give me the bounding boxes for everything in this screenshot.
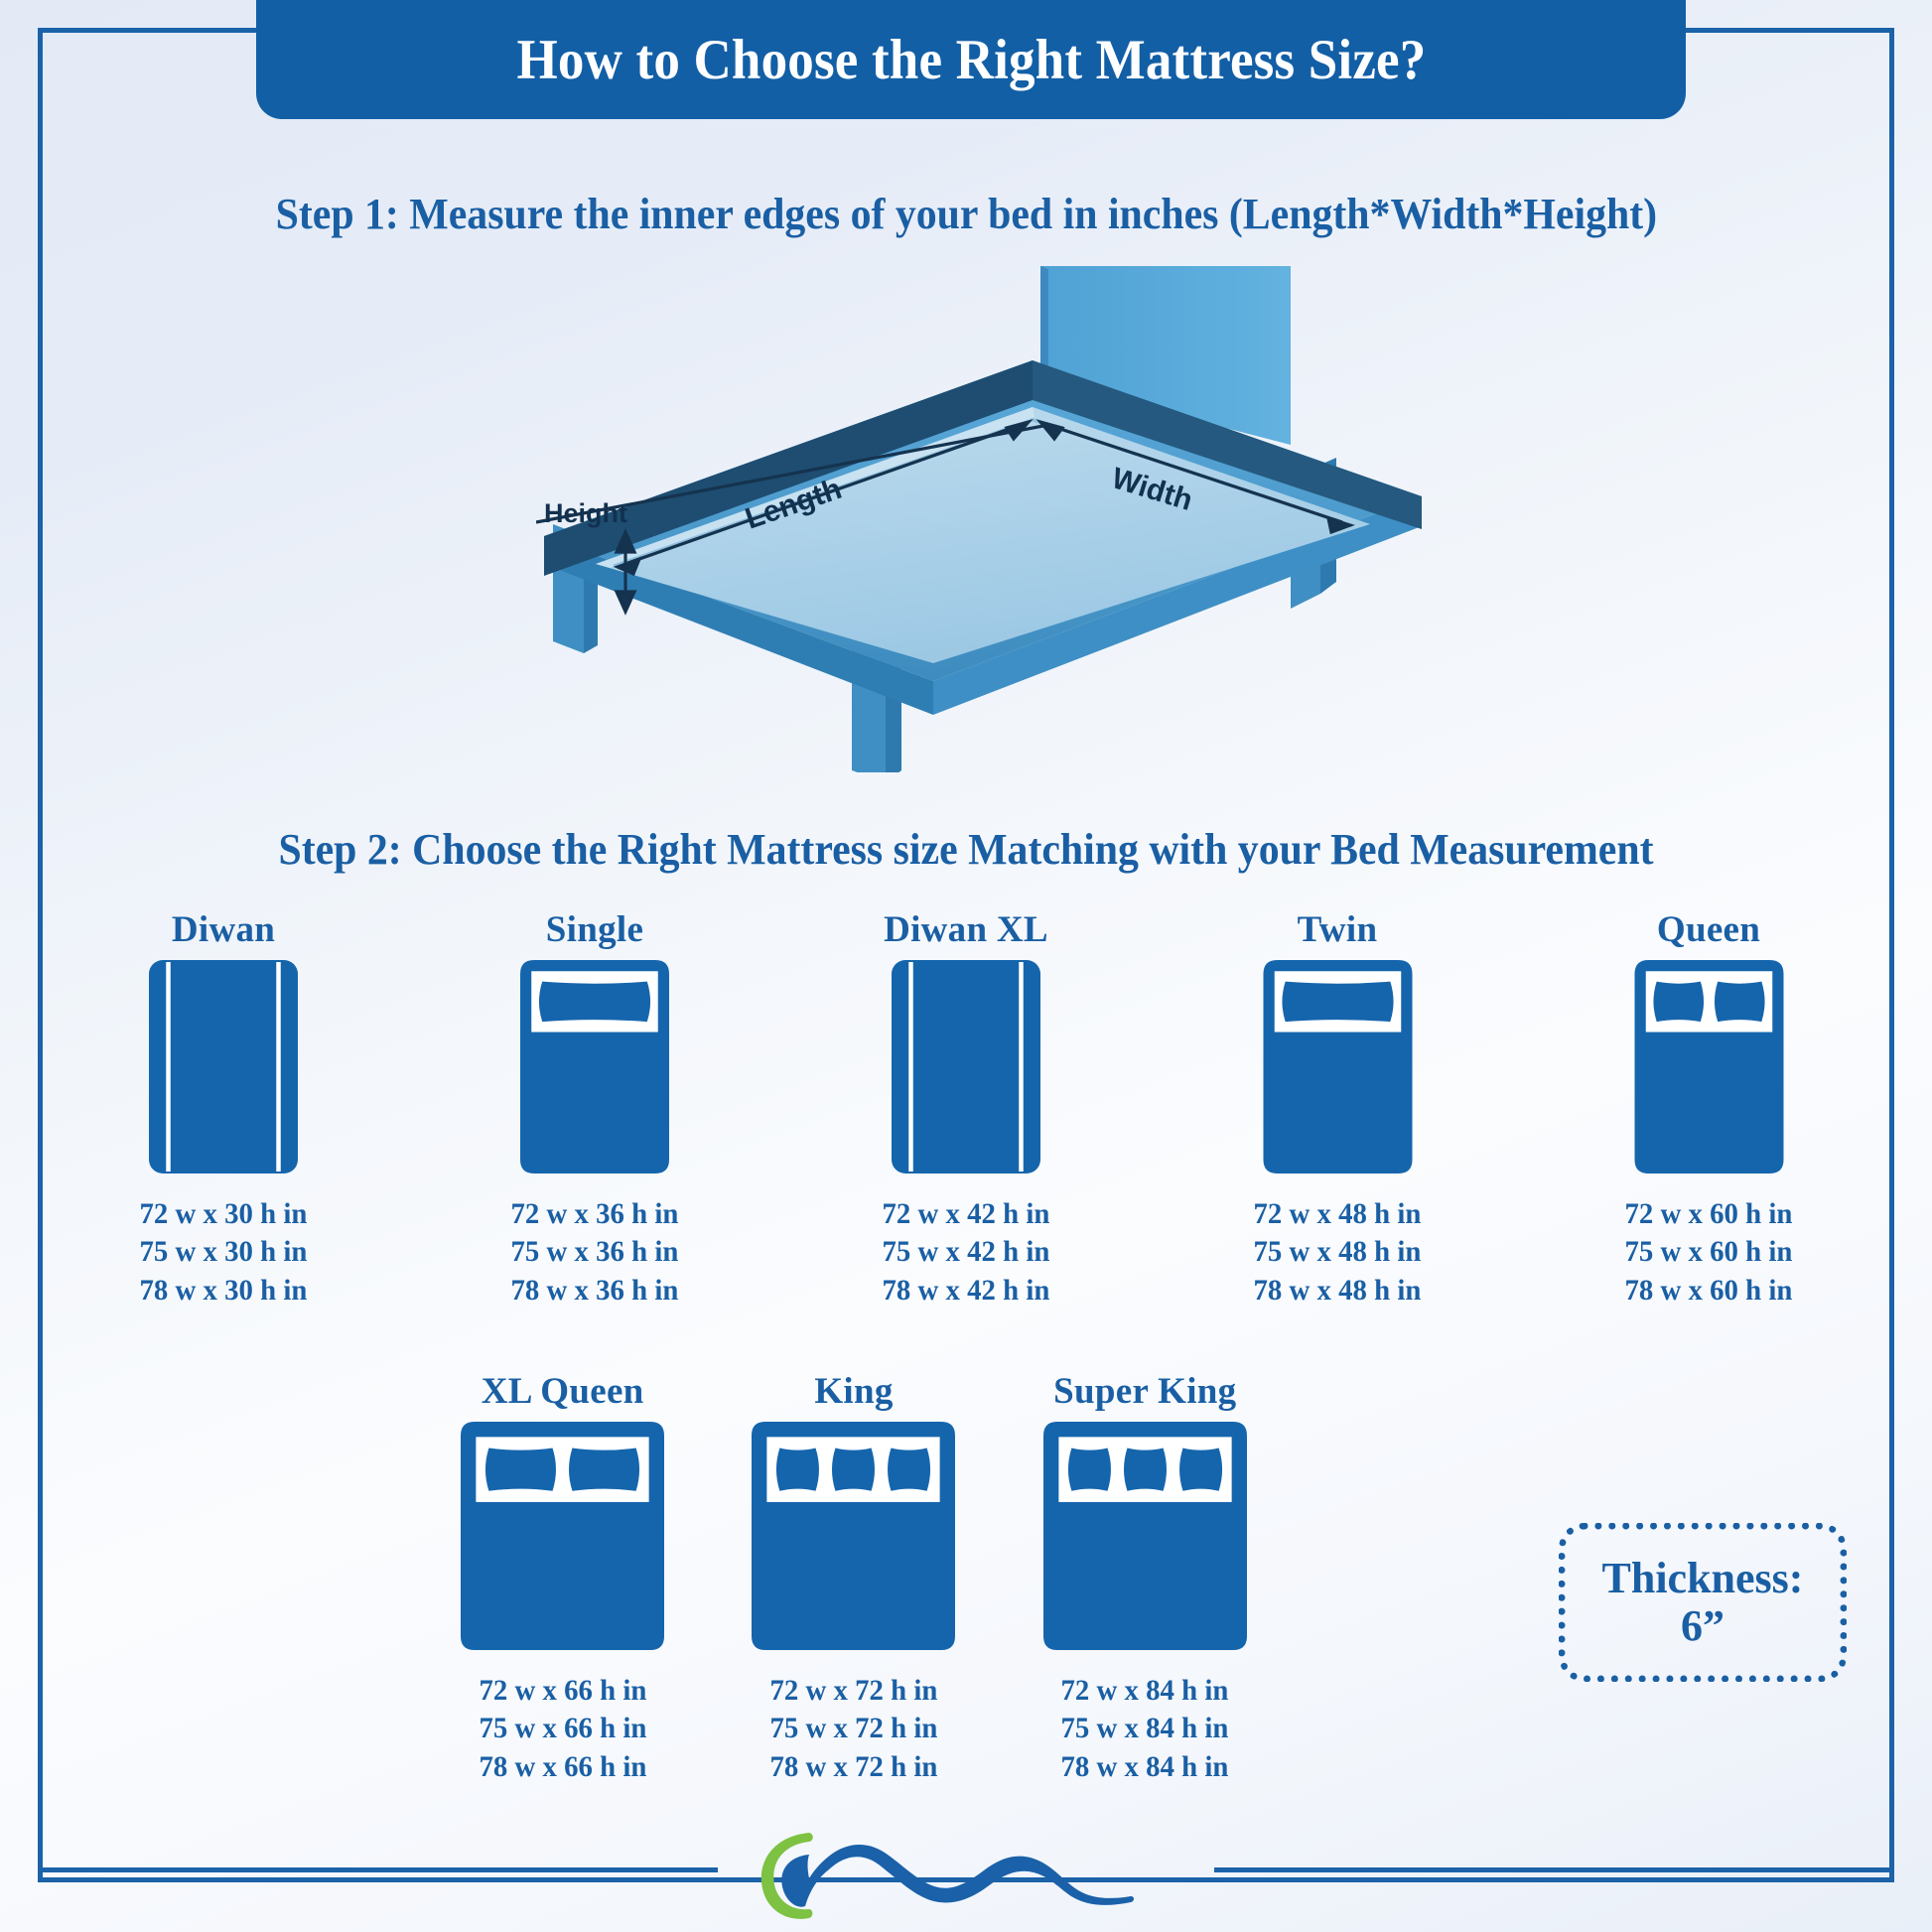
mattress-card-title: King — [814, 1370, 893, 1413]
mattress-dimensions: 72 w x 66 h in75 w x 66 h in78 w x 66 h … — [476, 1672, 650, 1786]
mattress-dimension-line: 72 w x 48 h in — [1254, 1195, 1422, 1233]
mattress-row-2: XL Queen72 w x 66 h in75 w x 66 h in78 w… — [417, 1370, 1291, 1786]
mattress-dimension-line: 78 w x 42 h in — [883, 1272, 1050, 1310]
mattress-icon — [722, 1422, 985, 1650]
mattress-card-single[interactable]: Single72 w x 36 h in75 w x 36 h in78 w x… — [476, 908, 714, 1310]
mattress-dimensions: 72 w x 30 h in75 w x 30 h in78 w x 30 h … — [136, 1195, 311, 1310]
mattress-icon — [149, 960, 298, 1173]
mattress-card-title: Diwan XL — [884, 908, 1048, 951]
bed-height-label: Height — [544, 498, 627, 528]
mattress-card-title: Super King — [1053, 1370, 1236, 1413]
thickness-value: 6” — [1681, 1602, 1725, 1650]
footer — [38, 1815, 1894, 1924]
brand-logo — [718, 1815, 1214, 1924]
mattress-dimension-line: 75 w x 36 h in — [511, 1233, 679, 1271]
mattress-dimensions: 72 w x 36 h in75 w x 36 h in78 w x 36 h … — [507, 1195, 682, 1310]
thickness-label: Thickness: — [1602, 1555, 1804, 1602]
mattress-dimensions: 72 w x 84 h in75 w x 84 h in78 w x 84 h … — [1057, 1672, 1232, 1786]
mattress-dimensions: 72 w x 42 h in75 w x 42 h in78 w x 42 h … — [879, 1195, 1053, 1310]
mattress-dimension-line: 78 w x 48 h in — [1254, 1272, 1422, 1310]
mattress-dimension-line: 72 w x 42 h in — [883, 1195, 1050, 1233]
mattress-icon-wrap — [149, 960, 298, 1173]
logo-blue-wave — [781, 1845, 1134, 1907]
mattress-dimension-line: 75 w x 60 h in — [1625, 1233, 1793, 1271]
mattress-dimension-line: 75 w x 30 h in — [140, 1233, 308, 1271]
mattress-dimension-line: 75 w x 66 h in — [479, 1710, 646, 1747]
mattress-card-twin[interactable]: Twin72 w x 48 h in75 w x 48 h in78 w x 4… — [1218, 908, 1456, 1310]
mattress-icon-wrap — [1014, 1422, 1277, 1650]
bed-diagram: Height Length Width — [536, 266, 1430, 772]
footer-rule-right — [1214, 1867, 1894, 1872]
title-banner: How to Choose the Right Mattress Size? — [256, 0, 1686, 119]
mattress-dimension-line: 78 w x 72 h in — [770, 1748, 938, 1786]
mattress-icon — [461, 1422, 664, 1650]
mattress-dimension-line: 72 w x 66 h in — [479, 1672, 646, 1710]
mattress-dimensions: 72 w x 60 h in75 w x 60 h in78 w x 60 h … — [1621, 1195, 1796, 1310]
mattress-icon — [882, 960, 1050, 1173]
mattress-card-title: Twin — [1298, 908, 1378, 951]
mattress-card-title: Queen — [1657, 908, 1760, 951]
step-2-heading: Step 2: Choose the Right Mattress size M… — [0, 824, 1932, 875]
mattress-icon-wrap — [882, 960, 1050, 1173]
mattress-card-super-king[interactable]: Super King72 w x 84 h in75 w x 84 h in78… — [1000, 1370, 1291, 1786]
mattress-card-diwan[interactable]: Diwan72 w x 30 h in75 w x 30 h in78 w x … — [104, 908, 343, 1310]
mattress-icon-wrap — [461, 1422, 664, 1650]
mattress-dimension-line: 72 w x 84 h in — [1061, 1672, 1229, 1710]
mattress-dimension-line: 75 w x 48 h in — [1254, 1233, 1422, 1271]
mattress-dimensions: 72 w x 72 h in75 w x 72 h in78 w x 72 h … — [766, 1672, 941, 1786]
mattress-dimensions: 72 w x 48 h in75 w x 48 h in78 w x 48 h … — [1250, 1195, 1425, 1310]
mattress-dimension-line: 78 w x 84 h in — [1061, 1748, 1229, 1786]
thickness-badge: Thickness: 6” — [1559, 1523, 1847, 1682]
mattress-icon-wrap — [722, 1422, 985, 1650]
page-title: How to Choose the Right Mattress Size? — [516, 28, 1426, 92]
mattress-row-1: Diwan72 w x 30 h in75 w x 30 h in78 w x … — [38, 908, 1894, 1310]
mattress-dimension-line: 72 w x 72 h in — [770, 1672, 938, 1710]
mattress-card-queen[interactable]: Queen72 w x 60 h in75 w x 60 h in78 w x … — [1589, 908, 1828, 1310]
mattress-icon — [1612, 960, 1806, 1173]
mattress-dimension-line: 75 w x 42 h in — [883, 1233, 1050, 1271]
mattress-dimension-line: 72 w x 36 h in — [511, 1195, 679, 1233]
mattress-dimension-line: 78 w x 66 h in — [479, 1748, 646, 1786]
step-2-text: Step 2: Choose the Right Mattress size M… — [278, 824, 1653, 875]
mattress-card-title: Single — [546, 908, 643, 951]
mattress-dimension-line: 72 w x 60 h in — [1625, 1195, 1793, 1233]
mattress-dimension-line: 78 w x 30 h in — [140, 1272, 308, 1310]
mattress-card-title: Diwan — [172, 908, 275, 951]
footer-rule-left — [38, 1867, 718, 1872]
mattress-card-diwan-xl[interactable]: Diwan XL72 w x 42 h in75 w x 42 h in78 w… — [847, 908, 1085, 1310]
mattress-dimension-line: 75 w x 84 h in — [1061, 1710, 1229, 1747]
mattress-icon-wrap — [1612, 960, 1806, 1173]
mattress-icon-wrap — [1256, 960, 1420, 1173]
mattress-dimension-line: 78 w x 36 h in — [511, 1272, 679, 1310]
mattress-dimension-line: 75 w x 72 h in — [770, 1710, 938, 1747]
mattress-dimension-line: 78 w x 60 h in — [1625, 1272, 1793, 1310]
mattress-icon — [1014, 1422, 1277, 1650]
mattress-card-title: XL Queen — [482, 1370, 644, 1413]
step-1-text: Step 1: Measure the inner edges of your … — [275, 189, 1656, 239]
bed-illustration-svg: Height Length Width — [536, 266, 1430, 772]
mattress-dimension-line: 72 w x 30 h in — [140, 1195, 308, 1233]
mattress-icon — [520, 960, 669, 1173]
step-1-heading: Step 1: Measure the inner edges of your … — [0, 189, 1932, 239]
mattress-card-xl-queen[interactable]: XL Queen72 w x 66 h in75 w x 66 h in78 w… — [417, 1370, 708, 1786]
mattress-icon-wrap — [520, 960, 669, 1173]
mattress-icon — [1256, 960, 1420, 1173]
mattress-card-king[interactable]: King72 w x 72 h in75 w x 72 h in78 w x 7… — [708, 1370, 999, 1786]
